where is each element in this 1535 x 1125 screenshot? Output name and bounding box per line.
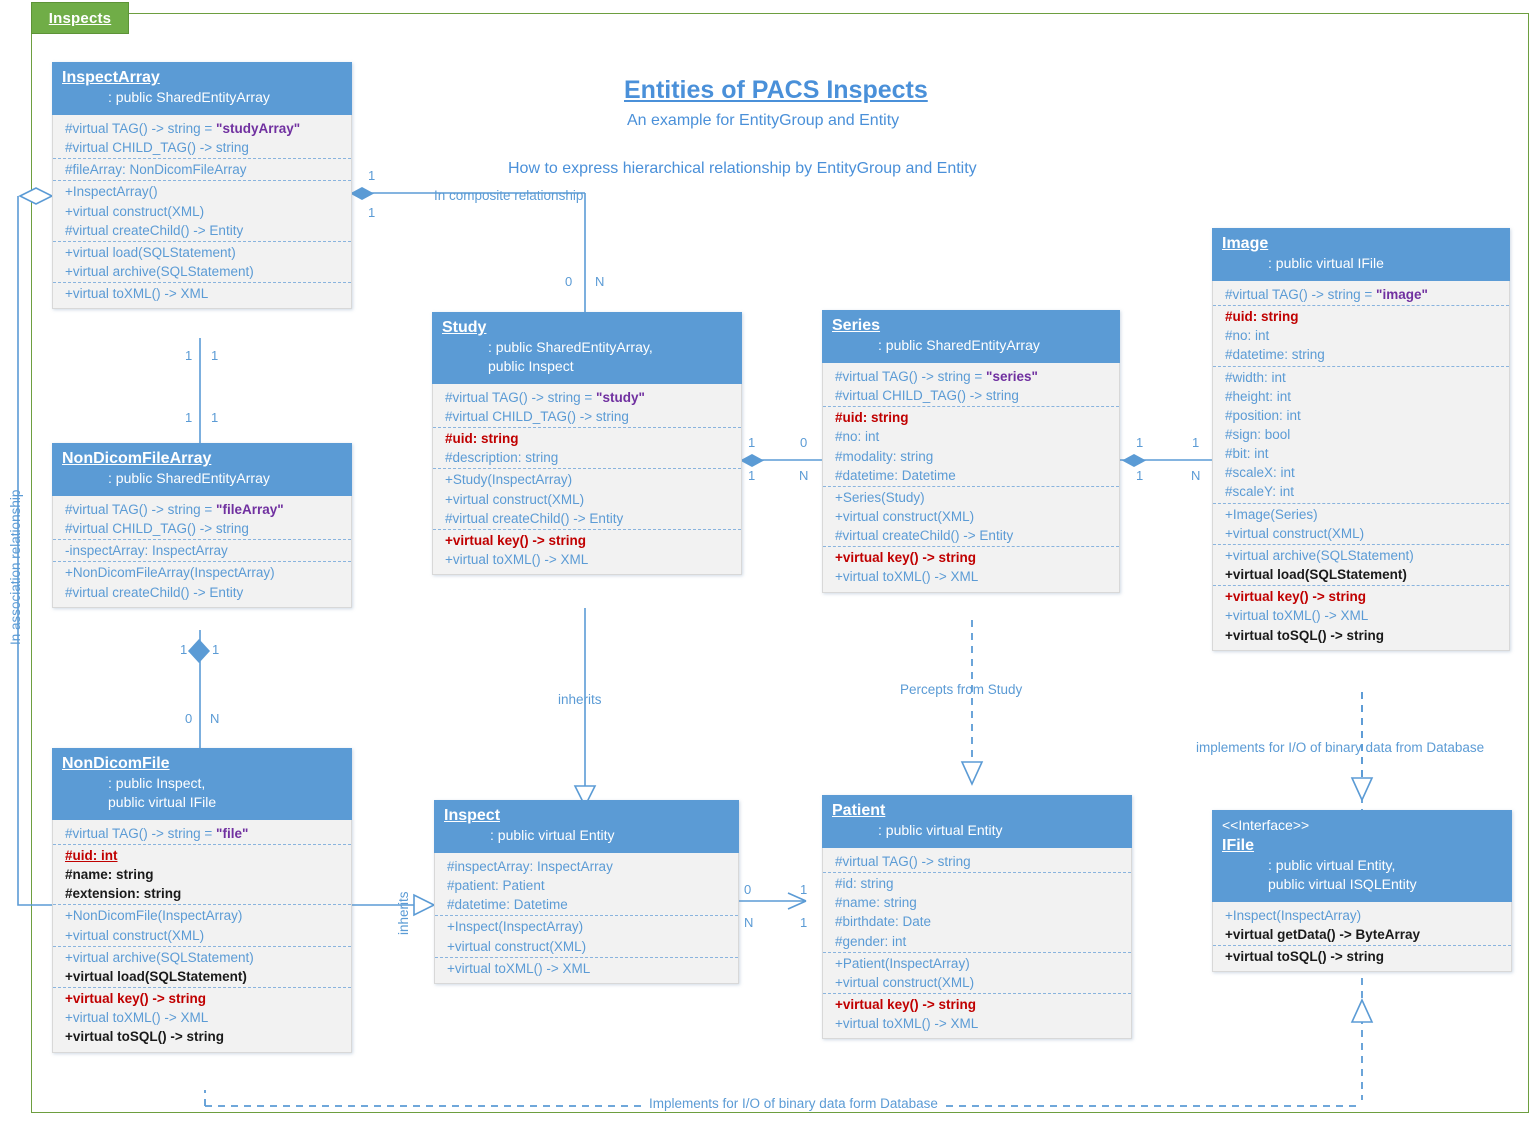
class-body: #virtual TAG() -> string = "fileArray"#v… bbox=[52, 496, 352, 608]
class-base: : public virtual IFile bbox=[1222, 254, 1500, 273]
package-tab[interactable]: Inspects bbox=[31, 2, 129, 34]
class-member: #position: int bbox=[1213, 406, 1509, 425]
class-series[interactable]: Series: public SharedEntityArray#virtual… bbox=[822, 310, 1120, 593]
mult-ia-nda-b2: 1 bbox=[211, 410, 218, 425]
mult-ia-study-0: 0 bbox=[565, 274, 572, 289]
class-member: #datetime: string bbox=[1213, 345, 1509, 364]
class-member: #virtual CHILD_TAG() -> string bbox=[53, 519, 351, 538]
member-group: #id: string#name: string#birthdate: Date… bbox=[823, 872, 1131, 952]
class-member: #modality: string bbox=[823, 447, 1119, 466]
mult-ia-nda-a2: 1 bbox=[211, 348, 218, 363]
class-member: +virtual key() -> string bbox=[433, 531, 741, 550]
mult-series-image-l2: 1 bbox=[1136, 468, 1143, 483]
class-member: +Image(Series) bbox=[1213, 505, 1509, 524]
class-name: NonDicomFile bbox=[62, 754, 342, 774]
class-base: : public Inspect, bbox=[62, 774, 342, 793]
class-member: #no: int bbox=[823, 427, 1119, 446]
label-composite-relationship: In composite relationship bbox=[434, 188, 583, 203]
mult-inspect-patient-N: N bbox=[744, 915, 753, 930]
member-group: +virtual toXML() -> XML bbox=[435, 957, 738, 979]
class-member: #uid: string bbox=[433, 429, 741, 448]
class-header: InspectArray: public SharedEntityArray bbox=[52, 62, 352, 115]
mult-ia-nda-b1: 1 bbox=[185, 410, 192, 425]
member-group: +virtual key() -> string+virtual toXML()… bbox=[823, 546, 1119, 587]
mult-inspectarray-top: 1 bbox=[368, 168, 375, 183]
member-group: #virtual TAG() -> string = "fileArray"#v… bbox=[53, 499, 351, 539]
member-group: #virtual TAG() -> string = "study"#virtu… bbox=[433, 387, 741, 427]
class-member: #patient: Patient bbox=[435, 876, 738, 895]
class-body: #inspectArray: InspectArray#patient: Pat… bbox=[434, 853, 739, 984]
class-member: #bit: int bbox=[1213, 444, 1509, 463]
class-member: +virtual toSQL() -> string bbox=[1213, 947, 1511, 966]
member-group: +Inspect(InspectArray)+virtual construct… bbox=[435, 915, 738, 956]
member-group: #width: int#height: int#position: int#si… bbox=[1213, 366, 1509, 503]
class-member: #virtual TAG() -> string = "series" bbox=[823, 367, 1119, 386]
class-member: +virtual toXML() -> XML bbox=[433, 550, 741, 569]
page-subtitle: An example for EntityGroup and Entity bbox=[627, 112, 899, 130]
class-member: +virtual load(SQLStatement) bbox=[53, 967, 351, 986]
class-member: +virtual construct(XML) bbox=[53, 202, 351, 221]
class-name: IFile bbox=[1222, 836, 1502, 856]
class-member: #scaleY: int bbox=[1213, 482, 1509, 501]
class-member: +virtual key() -> string bbox=[823, 995, 1131, 1014]
class-member: #inspectArray: InspectArray bbox=[435, 857, 738, 876]
class-member: #no: int bbox=[1213, 326, 1509, 345]
class-member: +Inspect(InspectArray) bbox=[435, 917, 738, 936]
class-member: #height: int bbox=[1213, 387, 1509, 406]
class-member: #uid: string bbox=[823, 408, 1119, 427]
class-member: +virtual toXML() -> XML bbox=[823, 1014, 1131, 1033]
member-group: +virtual toXML() -> XML bbox=[53, 282, 351, 304]
member-group: #inspectArray: InspectArray#patient: Pat… bbox=[435, 856, 738, 915]
class-member: #virtual TAG() -> string bbox=[823, 852, 1131, 871]
class-member: #virtual CHILD_TAG() -> string bbox=[53, 138, 351, 157]
class-member: +virtual key() -> string bbox=[53, 989, 351, 1008]
hierarchy-note: How to express hierarchical relationship… bbox=[508, 160, 977, 178]
class-member: +NonDicomFileArray(InspectArray) bbox=[53, 563, 351, 582]
class-header: Patient: public virtual Entity bbox=[822, 795, 1132, 848]
class-member: #virtual TAG() -> string = "fileArray" bbox=[53, 500, 351, 519]
class-member: +virtual toXML() -> XML bbox=[435, 959, 738, 978]
class-member: +virtual load(SQLStatement) bbox=[53, 243, 351, 262]
mult-series-image-rN: N bbox=[1191, 468, 1200, 483]
mult-study-series-l2: 1 bbox=[748, 468, 755, 483]
label-association-relationship: In association relationship bbox=[8, 490, 23, 645]
page-title: Entities of PACS Inspects bbox=[624, 76, 928, 105]
class-member: #virtual TAG() -> string = "file" bbox=[53, 824, 351, 843]
class-header: NonDicomFile: public Inspect,public virt… bbox=[52, 748, 352, 820]
class-member: +virtual construct(XML) bbox=[435, 937, 738, 956]
class-member: #width: int bbox=[1213, 368, 1509, 387]
class-member: +virtual key() -> string bbox=[1213, 587, 1509, 606]
mult-nda-ndf-0: 0 bbox=[185, 711, 192, 726]
class-member: #birthdate: Date bbox=[823, 912, 1131, 931]
class-patient[interactable]: Patient: public virtual Entity#virtual T… bbox=[822, 795, 1132, 1039]
member-group: #uid: string#description: string bbox=[433, 427, 741, 468]
class-base: : public SharedEntityArray bbox=[62, 88, 342, 107]
mult-series-image-l1: 1 bbox=[1136, 435, 1143, 450]
class-inspectarray[interactable]: InspectArray: public SharedEntityArray#v… bbox=[52, 62, 352, 309]
member-group: +Study(InspectArray)+virtual construct(X… bbox=[433, 468, 741, 528]
class-member: #virtual createChild() -> Entity bbox=[53, 221, 351, 240]
class-inspect[interactable]: Inspect: public virtual Entity#inspectAr… bbox=[434, 800, 739, 984]
class-member: +virtual archive(SQLStatement) bbox=[1213, 546, 1509, 565]
class-body: #virtual TAG() -> string = "study"#virtu… bbox=[432, 384, 742, 575]
class-member: #scaleX: int bbox=[1213, 463, 1509, 482]
class-member: +virtual toSQL() -> string bbox=[53, 1027, 351, 1046]
class-member: #virtual createChild() -> Entity bbox=[433, 509, 741, 528]
class-body: +Inspect(InspectArray)+virtual getData()… bbox=[1212, 902, 1512, 972]
mult-inspect-patient-1b: 1 bbox=[800, 915, 807, 930]
class-member: #id: string bbox=[823, 874, 1131, 893]
member-group: +virtual key() -> string+virtual toXML()… bbox=[53, 987, 351, 1047]
mult-inspectarray-bottom: 1 bbox=[368, 205, 375, 220]
member-group: +virtual archive(SQLStatement)+virtual l… bbox=[1213, 544, 1509, 585]
class-member: #extension: string bbox=[53, 884, 351, 903]
label-percepts-from-study: Percepts from Study bbox=[900, 682, 1022, 697]
class-ifile[interactable]: <<Interface>>IFile: public virtual Entit… bbox=[1212, 810, 1512, 972]
class-base: : public SharedEntityArray bbox=[832, 336, 1110, 355]
class-header: Study: public SharedEntityArray,public I… bbox=[432, 312, 742, 384]
class-member: +virtual toXML() -> XML bbox=[823, 567, 1119, 586]
class-member: #description: string bbox=[433, 448, 741, 467]
class-base: : public virtual Entity, bbox=[1222, 856, 1502, 875]
class-body: #virtual TAG() -> string#id: string#name… bbox=[822, 848, 1132, 1039]
mult-inspect-patient-1a: 1 bbox=[800, 882, 807, 897]
class-member: +virtual archive(SQLStatement) bbox=[53, 948, 351, 967]
member-group: #uid: int#name: string#extension: string bbox=[53, 844, 351, 904]
class-study[interactable]: Study: public SharedEntityArray,public I… bbox=[432, 312, 742, 575]
class-name: Study bbox=[442, 318, 732, 338]
class-member: +InspectArray() bbox=[53, 182, 351, 201]
class-member: +virtual key() -> string bbox=[823, 548, 1119, 567]
mult-ia-study-N: N bbox=[595, 274, 604, 289]
mult-ia-nda-a1: 1 bbox=[185, 348, 192, 363]
class-image[interactable]: Image: public virtual IFile#virtual TAG(… bbox=[1212, 228, 1510, 651]
class-member: #name: string bbox=[53, 865, 351, 884]
member-group: #virtual TAG() -> string = "studyArray"#… bbox=[53, 118, 351, 158]
class-member: +virtual toXML() -> XML bbox=[1213, 606, 1509, 625]
class-header: Series: public SharedEntityArray bbox=[822, 310, 1120, 363]
class-member: +virtual toXML() -> XML bbox=[53, 284, 351, 303]
class-name: Inspect bbox=[444, 806, 729, 826]
class-member: +virtual toSQL() -> string bbox=[1213, 626, 1509, 645]
member-group: #virtual TAG() -> string = "file" bbox=[53, 823, 351, 844]
class-member: +Inspect(InspectArray) bbox=[1213, 906, 1511, 925]
member-group: +NonDicomFileArray(InspectArray)#virtual… bbox=[53, 561, 351, 602]
class-member: +virtual construct(XML) bbox=[823, 507, 1119, 526]
class-name: Image bbox=[1222, 234, 1500, 254]
label-implements-right: implements for I/O of binary data from D… bbox=[1196, 740, 1484, 755]
class-member: #virtual TAG() -> string = "image" bbox=[1213, 285, 1509, 304]
class-member: #sign: bool bbox=[1213, 425, 1509, 444]
member-group: +virtual archive(SQLStatement)+virtual l… bbox=[53, 946, 351, 987]
member-group: +NonDicomFile(InspectArray)+virtual cons… bbox=[53, 904, 351, 945]
class-member: +virtual load(SQLStatement) bbox=[1213, 565, 1509, 584]
mult-nda-ndf-1b: 1 bbox=[212, 642, 219, 657]
class-member: +virtual construct(XML) bbox=[433, 490, 741, 509]
class-member: -inspectArray: InspectArray bbox=[53, 541, 351, 560]
member-group: #uid: string#no: int#modality: string#da… bbox=[823, 406, 1119, 486]
mult-series-image-r1: 1 bbox=[1192, 435, 1199, 450]
class-member: +Study(InspectArray) bbox=[433, 470, 741, 489]
class-header: NonDicomFileArray: public SharedEntityAr… bbox=[52, 443, 352, 496]
class-header: Image: public virtual IFile bbox=[1212, 228, 1510, 281]
class-body: #virtual TAG() -> string = "series"#virt… bbox=[822, 363, 1120, 593]
member-group: +virtual key() -> string+virtual toXML()… bbox=[1213, 585, 1509, 645]
member-group: #uid: string#no: int#datetime: string bbox=[1213, 305, 1509, 365]
member-group: +Patient(InspectArray)+virtual construct… bbox=[823, 952, 1131, 993]
class-member: #uid: int bbox=[53, 846, 351, 865]
class-name: NonDicomFileArray bbox=[62, 449, 342, 469]
class-member: #datetime: Datetime bbox=[823, 466, 1119, 485]
member-group: #virtual TAG() -> string = "series"#virt… bbox=[823, 366, 1119, 406]
class-member: +virtual construct(XML) bbox=[1213, 524, 1509, 543]
class-member: #uid: string bbox=[1213, 307, 1509, 326]
member-group: #virtual TAG() -> string = "image" bbox=[1213, 284, 1509, 305]
mult-study-series-rN: N bbox=[799, 468, 808, 483]
class-member: +Series(Study) bbox=[823, 488, 1119, 507]
class-member: #virtual CHILD_TAG() -> string bbox=[433, 407, 741, 426]
class-base-2: public virtual IFile bbox=[62, 793, 342, 812]
member-group: +virtual key() -> string+virtual toXML()… bbox=[823, 993, 1131, 1034]
class-base-2: public Inspect bbox=[442, 357, 732, 376]
member-group: +InspectArray()+virtual construct(XML)#v… bbox=[53, 180, 351, 240]
class-base-2: public virtual ISQLEntity bbox=[1222, 875, 1502, 894]
class-base: : public virtual Entity bbox=[832, 821, 1122, 840]
class-member: #virtual createChild() -> Entity bbox=[823, 526, 1119, 545]
class-body: #virtual TAG() -> string = "studyArray"#… bbox=[52, 115, 352, 309]
class-member: #gender: int bbox=[823, 932, 1131, 951]
member-group: +virtual load(SQLStatement)+virtual arch… bbox=[53, 241, 351, 282]
class-member: #virtual createChild() -> Entity bbox=[53, 583, 351, 602]
member-group: +virtual toSQL() -> string bbox=[1213, 945, 1511, 967]
class-member: #datetime: Datetime bbox=[435, 895, 738, 914]
class-body: #virtual TAG() -> string = "file"#uid: i… bbox=[52, 820, 352, 1053]
class-member: +virtual getData() -> ByteArray bbox=[1213, 925, 1511, 944]
label-inherits-nondicomfile: inherits bbox=[396, 891, 411, 935]
class-member: +virtual toXML() -> XML bbox=[53, 1008, 351, 1027]
class-name: Series bbox=[832, 316, 1110, 336]
class-member: +Patient(InspectArray) bbox=[823, 954, 1131, 973]
class-member: +virtual construct(XML) bbox=[53, 926, 351, 945]
class-name: InspectArray bbox=[62, 68, 342, 88]
class-base: : public SharedEntityArray bbox=[62, 469, 342, 488]
class-member: +virtual construct(XML) bbox=[823, 973, 1131, 992]
member-group: +virtual key() -> string+virtual toXML()… bbox=[433, 529, 741, 570]
class-base: : public SharedEntityArray, bbox=[442, 338, 732, 357]
class-member: #virtual TAG() -> string = "studyArray" bbox=[53, 119, 351, 138]
label-implements-bottom: Implements for I/O of binary data form D… bbox=[645, 1096, 942, 1111]
class-member: #fileArray: NonDicomFileArray bbox=[53, 160, 351, 179]
member-group: +Series(Study)+virtual construct(XML)#vi… bbox=[823, 486, 1119, 546]
mult-study-series-r0: 0 bbox=[800, 435, 807, 450]
class-member: #virtual TAG() -> string = "study" bbox=[433, 388, 741, 407]
mult-nda-ndf-N: N bbox=[210, 711, 219, 726]
mult-nda-ndf-1a: 1 bbox=[180, 642, 187, 657]
class-member: +NonDicomFile(InspectArray) bbox=[53, 906, 351, 925]
class-base: : public virtual Entity bbox=[444, 826, 729, 845]
class-header: Inspect: public virtual Entity bbox=[434, 800, 739, 853]
member-group: #fileArray: NonDicomFileArray bbox=[53, 158, 351, 180]
class-header: <<Interface>>IFile: public virtual Entit… bbox=[1212, 810, 1512, 902]
class-nondicomfilearray[interactable]: NonDicomFileArray: public SharedEntityAr… bbox=[52, 443, 352, 608]
member-group: -inspectArray: InspectArray bbox=[53, 539, 351, 561]
class-name: Patient bbox=[832, 801, 1122, 821]
mult-inspect-patient-0: 0 bbox=[744, 882, 751, 897]
class-member: +virtual archive(SQLStatement) bbox=[53, 262, 351, 281]
label-inherits-study: inherits bbox=[558, 692, 602, 707]
class-stereotype: <<Interface>> bbox=[1222, 816, 1502, 834]
member-group: +Inspect(InspectArray)+virtual getData()… bbox=[1213, 905, 1511, 945]
member-group: +Image(Series)+virtual construct(XML) bbox=[1213, 503, 1509, 544]
mult-study-series-l1: 1 bbox=[748, 435, 755, 450]
member-group: #virtual TAG() -> string bbox=[823, 851, 1131, 872]
uml-class-diagram: Inspects bbox=[0, 0, 1535, 1125]
class-member: #name: string bbox=[823, 893, 1131, 912]
class-body: #virtual TAG() -> string = "image"#uid: … bbox=[1212, 281, 1510, 651]
class-member: #virtual CHILD_TAG() -> string bbox=[823, 386, 1119, 405]
class-nondicomfile[interactable]: NonDicomFile: public Inspect,public virt… bbox=[52, 748, 352, 1053]
